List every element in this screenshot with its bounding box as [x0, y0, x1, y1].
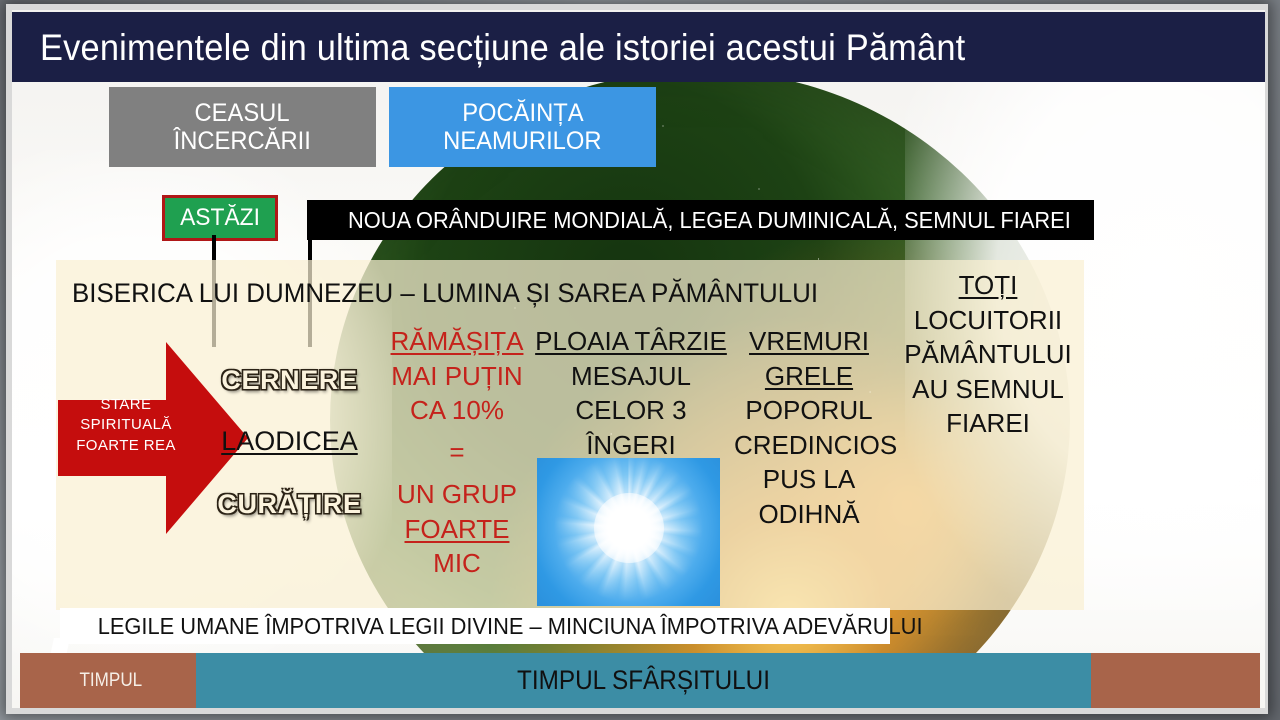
hard-times-line2: CREDINCIOS	[734, 428, 884, 463]
phase-box-pocainta-neamurilor[interactable]: POCĂINȚA NEAMURILOR	[389, 87, 656, 167]
astazi-label: ASTĂZI	[180, 204, 260, 232]
hard-times-heading1: VREMURI	[734, 324, 884, 359]
process-curatire: CURĂȚIRE	[207, 489, 372, 520]
hard-times-line4: ODIHNĂ	[734, 497, 884, 532]
all-inhabitants-line3: AU SEMNUL	[890, 372, 1086, 407]
black-banner-label: NOUA ORÂNDUIRE MONDIALĂ, LEGEA DUMINICAL…	[348, 207, 1071, 234]
latter-rain-line2: CELOR 3 ÎNGERI	[528, 393, 734, 462]
slide-root: Evenimentele din ultima secțiune ale ist…	[0, 0, 1280, 720]
latter-rain-line1: MESAJUL	[528, 359, 734, 394]
remnant-line1: MAI PUȚIN	[386, 359, 528, 394]
timeline-bar: TIMPUL TIMPUL SFÂRȘITULUI	[20, 653, 1260, 708]
phase-box-ceasul-incercarii[interactable]: CEASUL ÎNCERCĂRII	[109, 87, 376, 167]
phase-pocainta-line2: NEAMURILOR	[443, 127, 601, 155]
phase-pocainta-line1: POCĂINȚA	[462, 99, 583, 127]
hard-times-line1: POPORUL	[734, 393, 884, 428]
all-inhabitants-line4: FIAREI	[890, 406, 1086, 441]
all-inhabitants-line1: LOCUITORII	[890, 303, 1086, 338]
remnant-heading: RĂMĂȘIȚA	[386, 324, 528, 359]
remnant-equals: =	[386, 428, 528, 477]
arrow-label-line2: SPIRITUALĂ	[72, 415, 180, 435]
timeline-segment-right[interactable]	[1091, 653, 1260, 708]
content-headline: BISERICA LUI DUMNEZEU – LUMINA ȘI SAREA …	[72, 278, 818, 309]
latter-rain-heading: PLOAIA TÂRZIE	[528, 324, 734, 359]
remnant-line2: CA 10%	[386, 393, 528, 428]
remnant-line5-rest: MIC	[433, 548, 481, 578]
timeline-center-label: TIMPUL SFÂRȘITULUI	[517, 665, 770, 696]
astazi-marker[interactable]: ASTĂZI	[162, 195, 278, 241]
page-title: Evenimentele din ultima secțiune ale ist…	[40, 29, 965, 66]
phase-ceasul-line1: CEASUL	[195, 99, 290, 127]
sun-core	[594, 493, 664, 563]
latter-rain-column: PLOAIA TÂRZIE MESAJUL CELOR 3 ÎNGERI	[528, 324, 734, 462]
hard-times-column: VREMURI GRELE POPORUL CREDINCIOS PUS LA …	[734, 324, 884, 531]
sun-burst-image	[537, 458, 720, 606]
hard-times-line3: PUS LA	[734, 462, 884, 497]
timeline-segment-timpul-sfarsitului[interactable]: TIMPUL SFÂRȘITULUI	[196, 653, 1091, 708]
all-inhabitants-column: TOȚI LOCUITORII PĂMÂNTULUI AU SEMNUL FIA…	[890, 268, 1086, 441]
arrow-label-line1: STARE	[72, 395, 180, 415]
remnant-line5: FOARTE MIC	[386, 512, 528, 581]
law-banner-label: LEGILE UMANE ÎMPOTRIVA LEGII DIVINE – MI…	[98, 613, 923, 640]
arrow-label: STARE SPIRITUALĂ FOARTE REA	[72, 395, 180, 456]
timeline-segment-timpul[interactable]: TIMPUL	[20, 653, 196, 708]
process-cernere: CERNERE	[207, 365, 372, 396]
remnant-line5-emph: FOARTE	[405, 514, 510, 544]
process-laodicea: LAODICEA	[207, 426, 372, 457]
phase-ceasul-line2: ÎNCERCĂRII	[174, 127, 311, 155]
slide-title-bar: Evenimentele din ultima secțiune ale ist…	[12, 12, 1265, 82]
hard-times-heading2: GRELE	[734, 359, 884, 394]
all-inhabitants-heading: TOȚI	[890, 268, 1086, 303]
process-column: CERNERE LAODICEA CURĂȚIRE	[207, 365, 372, 550]
law-banner: LEGILE UMANE ÎMPOTRIVA LEGII DIVINE – MI…	[60, 608, 890, 644]
black-banner: NOUA ORÂNDUIRE MONDIALĂ, LEGEA DUMINICAL…	[307, 200, 1094, 240]
remnant-line4: UN GRUP	[386, 477, 528, 512]
all-inhabitants-line2: PĂMÂNTULUI	[890, 337, 1086, 372]
arrow-label-line3: FOARTE REA	[72, 436, 180, 456]
timeline-left-label: TIMPUL	[79, 670, 142, 692]
slide-canvas: Evenimentele din ultima secțiune ale ist…	[12, 10, 1265, 708]
remnant-column: RĂMĂȘIȚA MAI PUȚIN CA 10% = UN GRUP FOAR…	[386, 324, 528, 581]
